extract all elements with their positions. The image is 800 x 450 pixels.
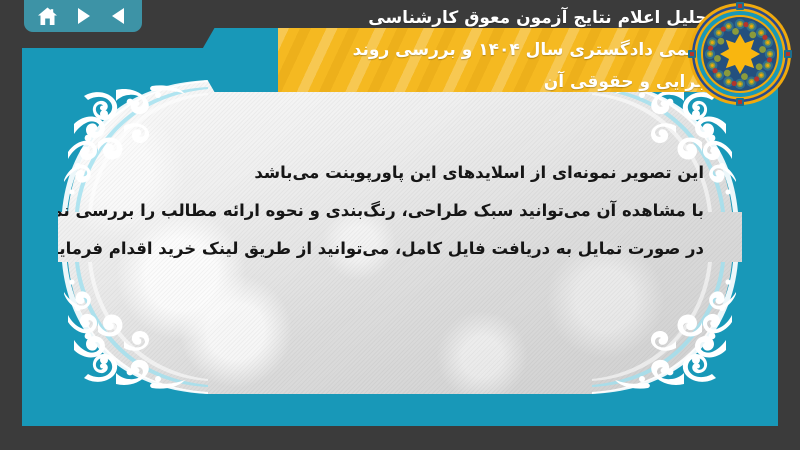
- slide-body-line-1: این تصویر نمونه‌ای از اسلایدهای این پاور…: [96, 154, 704, 192]
- slide-frame: این تصویر نمونه‌ای از اسلایدهای این پاور…: [22, 48, 778, 426]
- slide-body-line-2: با مشاهده آن می‌توانید سبک طراحی، رنگ‌بن…: [96, 192, 704, 230]
- page-title-line-1: تحلیل اعلام نتایج آزمون معوق کارشناسی: [194, 2, 714, 34]
- home-icon: [37, 6, 58, 27]
- home-button[interactable]: [36, 5, 58, 27]
- slide-body-text: این تصویر نمونه‌ای از اسلایدهای این پاور…: [96, 154, 704, 268]
- next-slide-button[interactable]: [72, 5, 94, 27]
- presentation-viewer: این تصویر نمونه‌ای از اسلایدهای این پاور…: [0, 0, 800, 450]
- slide-body-line-3: در صورت تمایل به دریافت فایل کامل، می‌تو…: [96, 230, 704, 268]
- arabesque-corner-ornament-bottom-right: [592, 262, 742, 394]
- triangle-left-icon: [109, 6, 129, 26]
- arabesque-corner-ornament-bottom-left: [58, 262, 208, 394]
- slide-content-area: این تصویر نمونه‌ای از اسلایدهای این پاور…: [58, 80, 742, 394]
- previous-slide-button[interactable]: [108, 5, 130, 27]
- triangle-right-icon: [73, 6, 93, 26]
- slide-navigation-bar: [24, 0, 142, 32]
